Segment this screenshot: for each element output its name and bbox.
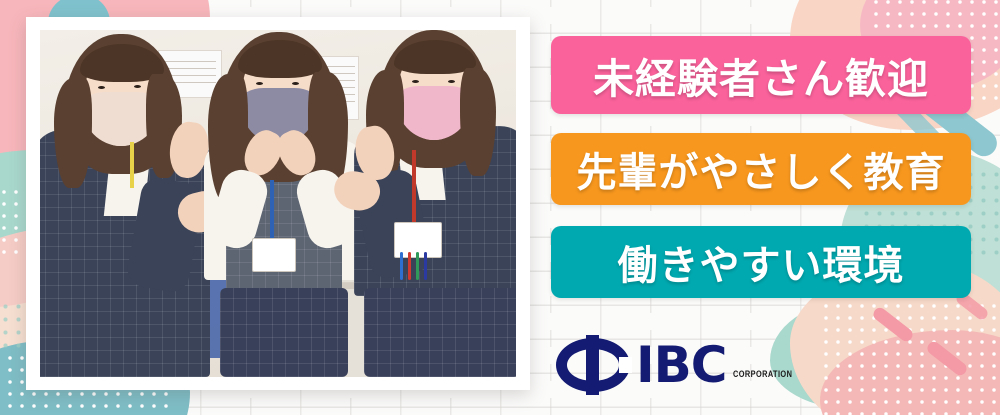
- logo-name: IBC: [636, 343, 726, 388]
- banner-training[interactable]: 先輩がやさしく教育: [551, 133, 971, 205]
- person-right-skirt: [364, 288, 516, 377]
- person-center-eye-l: [256, 82, 263, 85]
- person-right-pen-navy: [424, 252, 427, 280]
- person-right: [350, 30, 516, 377]
- circle-bar-emblem-icon: [556, 338, 630, 392]
- person-left-eye-l: [98, 86, 105, 89]
- banner-training-label: 先輩がやさしく教育: [577, 140, 946, 198]
- person-left-eye-r: [134, 85, 141, 88]
- person-right-pen-green: [416, 252, 419, 280]
- person-center-skirt: [220, 288, 348, 377]
- person-right-hair-side2: [460, 68, 496, 176]
- photo-frame: [26, 17, 530, 390]
- person-right-eye-r: [448, 80, 455, 83]
- company-logo[interactable]: IBC CORPORATION: [556, 337, 806, 393]
- person-right-pen-blue: [400, 252, 403, 280]
- person-right-eye-l: [412, 80, 419, 83]
- person-center-eye-r: [292, 82, 299, 85]
- person-center-badge: [252, 238, 296, 272]
- person-left-hair-side: [54, 78, 92, 188]
- banner-canvas: 未経験者さん歓迎 先輩がやさしく教育 働きやすい環境 IBC CORPORATI…: [0, 0, 1000, 415]
- logo-wordmark: IBC CORPORATION: [636, 343, 806, 388]
- person-left-lanyard: [130, 142, 134, 188]
- banner-inexperienced[interactable]: 未経験者さん歓迎: [551, 36, 971, 114]
- team-photo: [40, 30, 516, 377]
- logo-suffix: CORPORATION: [733, 369, 792, 379]
- person-right-lanyard: [412, 150, 416, 226]
- person-center-lanyard: [270, 180, 274, 242]
- person-right-pen-red: [408, 252, 411, 280]
- banner-inexperienced-label: 未経験者さん歓迎: [593, 45, 929, 105]
- banner-environment[interactable]: 働きやすい環境: [551, 226, 971, 298]
- banner-environment-label: 働きやすい環境: [618, 233, 905, 291]
